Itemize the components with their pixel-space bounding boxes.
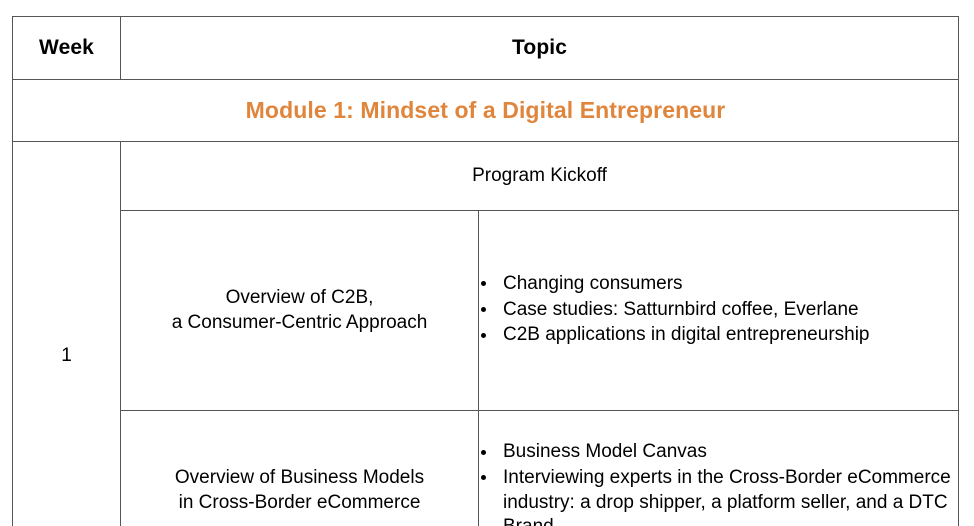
session-bullets-c2b: Changing consumers Case studies: Satturn… bbox=[479, 211, 959, 411]
session-title-line-1: Overview of Business Models bbox=[175, 467, 424, 488]
bullet-dot-icon bbox=[481, 307, 486, 312]
session-title-line-1: Overview of C2B, bbox=[226, 287, 374, 308]
session-title-line-2: in Cross-Border eCommerce bbox=[179, 492, 421, 513]
column-header-topic: Topic bbox=[121, 17, 959, 80]
list-item: Interviewing experts in the Cross-Border… bbox=[479, 466, 958, 526]
bullet-list: Business Model Canvas Interviewing exper… bbox=[479, 440, 958, 526]
bullet-dot-icon bbox=[481, 475, 486, 480]
list-item-text: Case studies: Satturnbird coffee, Everla… bbox=[503, 299, 859, 320]
program-kickoff-cell: Program Kickoff bbox=[121, 142, 959, 211]
column-header-week: Week bbox=[13, 17, 121, 80]
table-row: Overview of Business Models in Cross-Bor… bbox=[13, 411, 959, 526]
table-row: 1 Program Kickoff bbox=[13, 142, 959, 211]
list-item-text: Business Model Canvas bbox=[503, 441, 707, 462]
table-row: Overview of C2B, a Consumer-Centric Appr… bbox=[13, 211, 959, 411]
bullet-list: Changing consumers Case studies: Satturn… bbox=[479, 272, 958, 348]
list-item-text: C2B applications in digital entrepreneur… bbox=[503, 324, 870, 345]
week-number-cell: 1 bbox=[13, 142, 121, 526]
list-item-text: Changing consumers bbox=[503, 273, 683, 294]
module-banner-label: Module 1: Mindset of a Digital Entrepren… bbox=[246, 97, 726, 123]
list-item-text: Interviewing experts in the Cross-Border… bbox=[503, 467, 951, 526]
module-banner-row: Module 1: Mindset of a Digital Entrepren… bbox=[13, 80, 959, 142]
list-item: Case studies: Satturnbird coffee, Everla… bbox=[479, 298, 958, 323]
session-bullets-business-models: Business Model Canvas Interviewing exper… bbox=[479, 411, 959, 526]
bullet-dot-icon bbox=[481, 281, 486, 286]
session-title-line-2: a Consumer-Centric Approach bbox=[172, 312, 428, 333]
module-banner-cell: Module 1: Mindset of a Digital Entrepren… bbox=[13, 80, 959, 142]
list-item: Changing consumers bbox=[479, 272, 958, 297]
session-title-business-models: Overview of Business Models in Cross-Bor… bbox=[121, 411, 479, 526]
table-header-row: Week Topic bbox=[13, 17, 959, 80]
session-title-c2b: Overview of C2B, a Consumer-Centric Appr… bbox=[121, 211, 479, 411]
list-item: C2B applications in digital entrepreneur… bbox=[479, 323, 958, 348]
list-item: Business Model Canvas bbox=[479, 440, 958, 465]
bullet-dot-icon bbox=[481, 450, 486, 455]
course-syllabus-table: Week Topic Module 1: Mindset of a Digita… bbox=[12, 16, 959, 526]
document-page: Week Topic Module 1: Mindset of a Digita… bbox=[0, 0, 974, 526]
bullet-dot-icon bbox=[481, 333, 486, 338]
